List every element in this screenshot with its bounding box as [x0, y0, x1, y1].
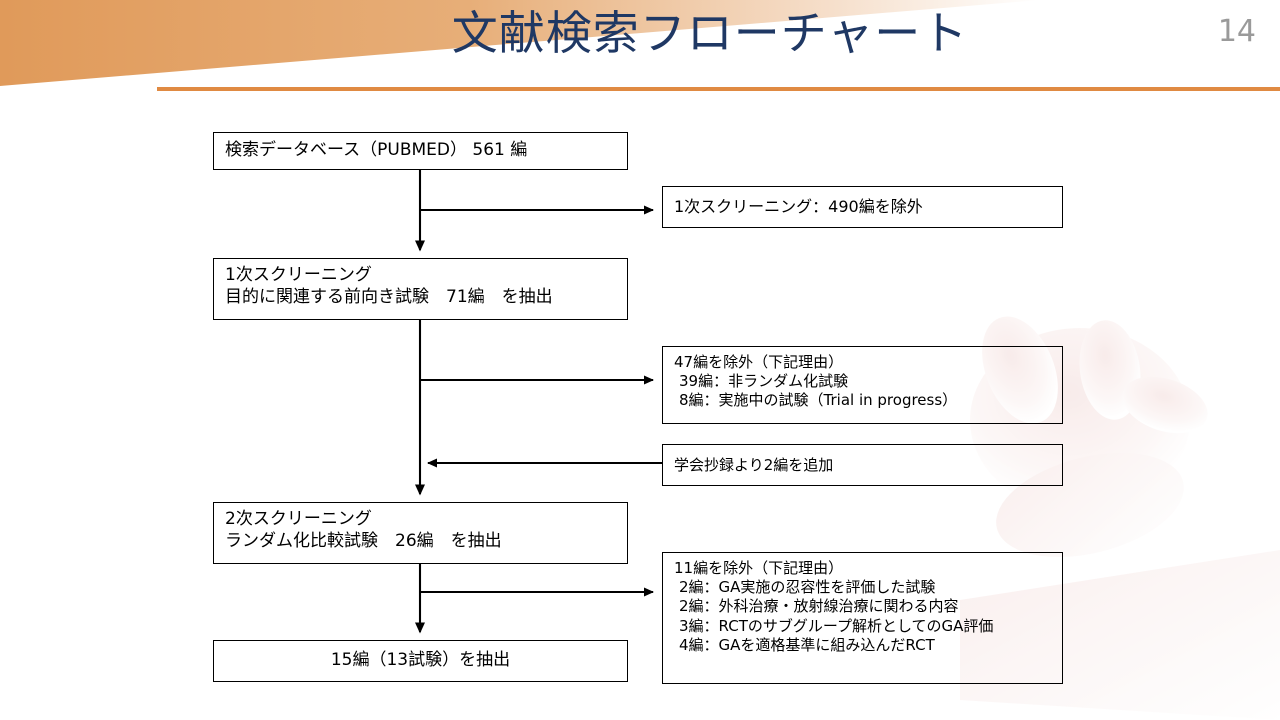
- database-box: 検索データベース（PUBMED） 561 編: [213, 132, 628, 170]
- abstract-addition-box: 学会抄録より2編を追加: [662, 444, 1063, 486]
- final-result-box: 15編（13試験）を抽出: [213, 640, 628, 682]
- final-result-text: 15編（13試験）を抽出: [214, 641, 627, 672]
- database-box-text: 検索データベース（PUBMED） 561 編: [214, 133, 627, 162]
- page-title: 文献検索フローチャート: [320, 10, 1100, 56]
- header-accent-rule: [157, 87, 1280, 91]
- slide-canvas: 文献検索フローチャート 14: [0, 0, 1280, 720]
- exclusion-11-reason-2: 2編：外科治療・放射線治療に関わる内容: [663, 597, 1062, 616]
- exclusion-11-reason-3: 3編：RCTのサブグループ解析としてのGA評価: [663, 617, 1062, 636]
- exclusion-47-heading: 47編を除外（下記理由）: [663, 353, 1062, 372]
- primary-screening-box: 1次スクリーニング 目的に関連する前向き試験 71編 を抽出: [213, 258, 628, 320]
- secondary-screening-box: 2次スクリーニング ランダム化比較試験 26編 を抽出: [213, 502, 628, 564]
- primary-screening-line2: 目的に関連する前向き試験 71編 を抽出: [214, 287, 627, 309]
- secondary-screening-line2: ランダム化比較試験 26編 を抽出: [214, 531, 627, 553]
- exclusion-47-box: 47編を除外（下記理由） 39編：非ランダム化試験 8編：実施中の試験（Tria…: [662, 346, 1063, 424]
- primary-screening-exclusion-box: 1次スクリーニング：490編を除外: [662, 186, 1063, 228]
- exclusion-11-reason-1: 2編：GA実施の忍容性を評価した試験: [663, 578, 1062, 597]
- flowchart-connectors: [0, 0, 1280, 720]
- primary-screening-exclusion-text: 1次スクリーニング：490編を除外: [663, 187, 1062, 217]
- exclusion-11-heading: 11編を除外（下記理由）: [663, 559, 1062, 578]
- exclusion-11-box: 11編を除外（下記理由） 2編：GA実施の忍容性を評価した試験 2編：外科治療・…: [662, 552, 1063, 684]
- exclusion-47-reason-2: 8編：実施中の試験（Trial in progress）: [663, 391, 1062, 410]
- abstract-addition-text: 学会抄録より2編を追加: [663, 445, 1062, 475]
- secondary-screening-line1: 2次スクリーニング: [214, 509, 627, 531]
- exclusion-11-reason-4: 4編：GAを適格基準に組み込んだRCT: [663, 636, 1062, 655]
- exclusion-47-reason-1: 39編：非ランダム化試験: [663, 372, 1062, 391]
- page-number: 14: [1218, 14, 1256, 49]
- primary-screening-line1: 1次スクリーニング: [214, 265, 627, 287]
